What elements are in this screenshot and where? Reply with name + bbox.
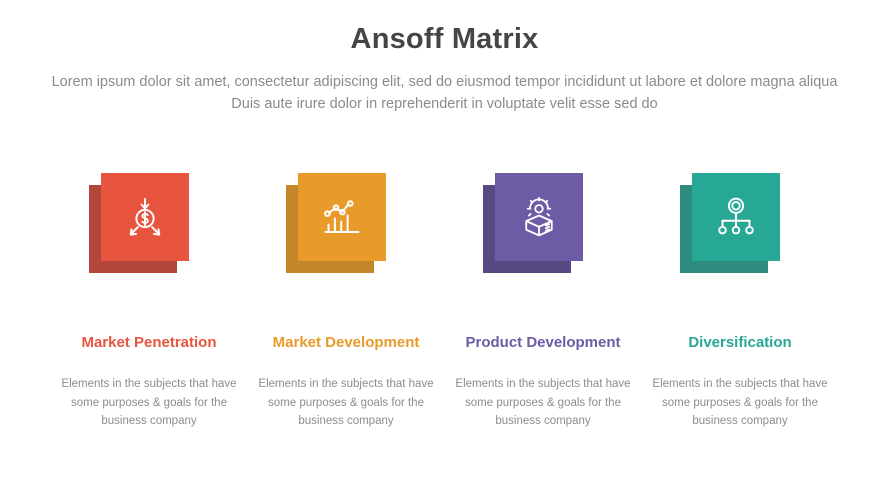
page-subtitle: Lorem ipsum dolor sit amet, consectetur … [40,71,850,116]
ansoff-matrix-slide: Ansoff Matrix Lorem ipsum dolor sit amet… [0,0,889,500]
card-stack [670,160,810,305]
bar-chart-trend-icon [318,193,366,241]
dollar-target-arrows-icon [121,193,169,241]
matrix-columns: Market Penetration Elements in the subje… [0,160,889,431]
card-stack [276,160,416,305]
card-front-square[interactable] [298,173,386,261]
card-front-square[interactable] [101,173,189,261]
page-title: Ansoff Matrix [0,22,889,57]
matrix-item-heading: Product Development [459,323,626,363]
card-stack [79,160,219,305]
matrix-item-heading: Market Development [267,323,426,363]
slide-header: Ansoff Matrix Lorem ipsum dolor sit amet… [0,0,889,116]
gear-box-icon [515,193,563,241]
matrix-item-diversification[interactable]: Diversification Elements in the subjects… [642,160,839,431]
matrix-item-heading: Market Penetration [75,323,222,363]
matrix-item-market-penetration[interactable]: Market Penetration Elements in the subje… [51,160,248,431]
matrix-item-body: Elements in the subjects that have some … [256,375,436,431]
card-front-square[interactable] [495,173,583,261]
hierarchy-branch-icon [712,193,760,241]
matrix-item-market-development[interactable]: Market Development Elements in the subje… [248,160,445,431]
matrix-item-heading: Diversification [682,323,797,363]
matrix-item-body: Elements in the subjects that have some … [59,375,239,431]
matrix-item-body: Elements in the subjects that have some … [453,375,633,431]
card-front-square[interactable] [692,173,780,261]
card-stack [473,160,613,305]
matrix-item-body: Elements in the subjects that have some … [650,375,830,431]
matrix-item-product-development[interactable]: Product Development Elements in the subj… [445,160,642,431]
